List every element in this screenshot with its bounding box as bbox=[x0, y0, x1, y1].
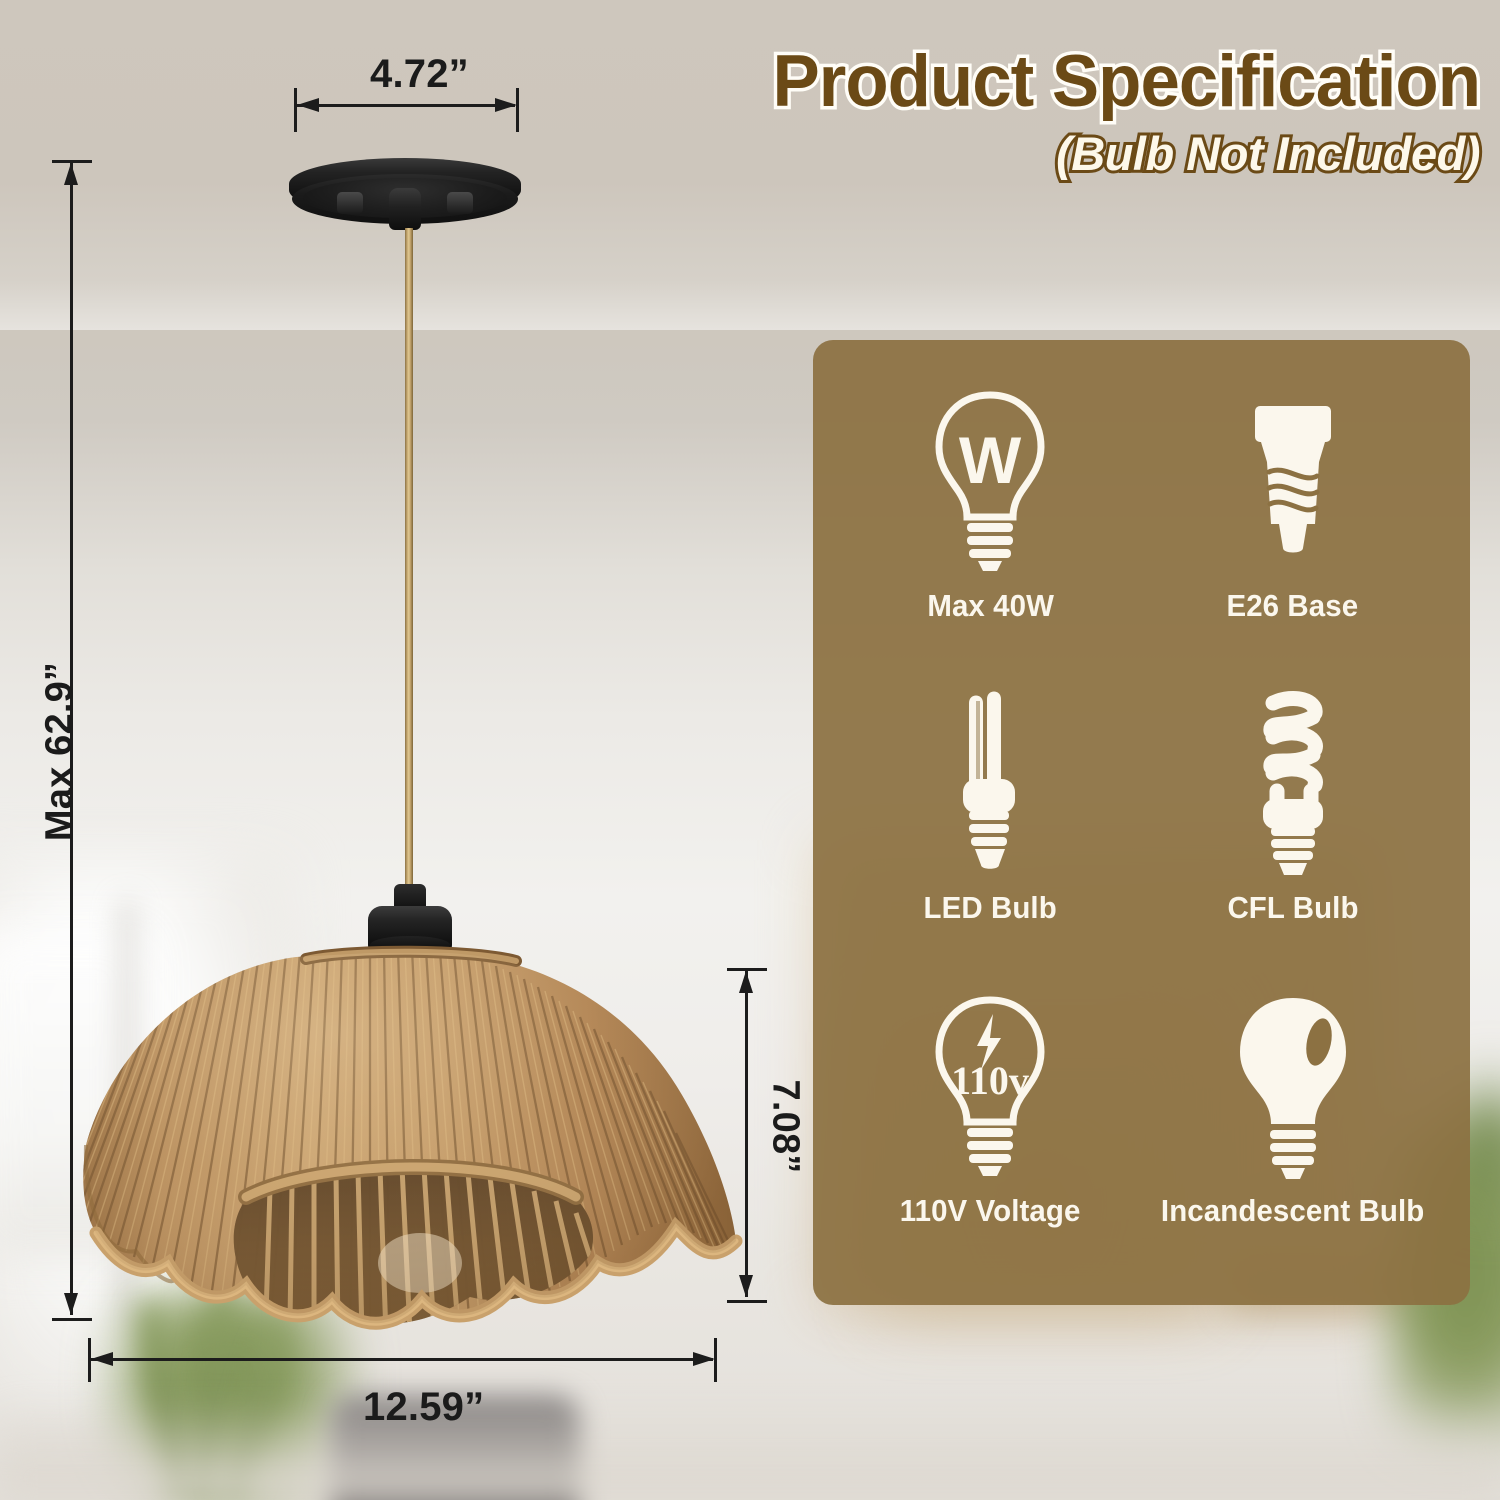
canopy-screw-left bbox=[337, 192, 363, 214]
cfl-spiral-bulb-icon bbox=[1233, 684, 1353, 880]
spec-item-cfl-bulb: CFL Bulb bbox=[1142, 670, 1445, 972]
incandescent-bulb-icon bbox=[1218, 987, 1368, 1183]
floor-haze bbox=[0, 1400, 1500, 1500]
lamp-socket-cover bbox=[368, 884, 452, 954]
dim-arrow-up bbox=[64, 163, 78, 185]
canopy-screw-right bbox=[447, 192, 473, 214]
dim-arrow-down bbox=[739, 1275, 753, 1297]
dim-arrow-right bbox=[693, 1352, 715, 1366]
dim-line bbox=[745, 971, 748, 1297]
hanging-cord bbox=[405, 228, 413, 888]
bulb-voltage-icon: 110v bbox=[915, 987, 1065, 1183]
dim-arrow-left bbox=[91, 1352, 113, 1366]
page-title: Product Specification bbox=[665, 45, 1480, 119]
spec-item-max-wattage: W Max 40W bbox=[839, 368, 1142, 670]
page-subtitle: (Bulb Not Included) bbox=[640, 129, 1480, 178]
spec-label-voltage: 110V Voltage bbox=[900, 1193, 1081, 1229]
specification-panel: W Max 40W E26 Base bbox=[813, 340, 1470, 1305]
spec-item-incandescent-bulb: Incandescent Bulb bbox=[1142, 973, 1445, 1275]
spec-label-base-type: E26 Base bbox=[1227, 588, 1359, 624]
spec-label-max-wattage: Max 40W bbox=[927, 588, 1054, 624]
spec-label-led-bulb: LED Bulb bbox=[924, 890, 1057, 926]
dimension-label-shade-width: 12.59” bbox=[363, 1385, 484, 1430]
voltage-icon-text: 110v bbox=[951, 1058, 1029, 1103]
woven-rattan-shade bbox=[70, 945, 750, 1365]
dim-line bbox=[297, 104, 515, 107]
dimension-label-shade-height: 7.08” bbox=[764, 1042, 807, 1212]
product-spec-image: 4.72” Max 62.9” 7.08” 12.59” Product Spe… bbox=[0, 0, 1500, 1500]
spec-label-incandescent-bulb: Incandescent Bulb bbox=[1161, 1193, 1424, 1229]
dim-arrow-left bbox=[297, 98, 319, 112]
dim-arrow-right bbox=[495, 98, 517, 112]
dim-arrow-up bbox=[739, 971, 753, 993]
bulb-wattage-icon: W bbox=[915, 382, 1065, 578]
svg-text:W: W bbox=[959, 423, 1022, 497]
dim-tick bbox=[52, 1318, 92, 1321]
dimension-label-max-drop: Max 62.9” bbox=[39, 622, 82, 882]
led-tube-bulb-icon bbox=[935, 684, 1045, 880]
screw-base-icon bbox=[1233, 382, 1353, 578]
dim-arrow-down bbox=[64, 1293, 78, 1315]
spec-item-led-bulb: LED Bulb bbox=[839, 670, 1142, 972]
dimension-label-canopy-width: 4.72” bbox=[370, 52, 469, 97]
ceiling-canopy bbox=[289, 158, 521, 230]
canopy-cord-grip bbox=[389, 188, 421, 230]
dim-tick bbox=[727, 1300, 767, 1303]
spec-label-cfl-bulb: CFL Bulb bbox=[1227, 890, 1358, 926]
spec-item-voltage: 110v 110V Voltage bbox=[839, 973, 1142, 1275]
header: Product Specification (Bulb Not Included… bbox=[640, 45, 1480, 179]
pendant-light-product bbox=[0, 0, 760, 1400]
dim-line bbox=[91, 1358, 713, 1361]
spec-item-base-type: E26 Base bbox=[1142, 368, 1445, 670]
